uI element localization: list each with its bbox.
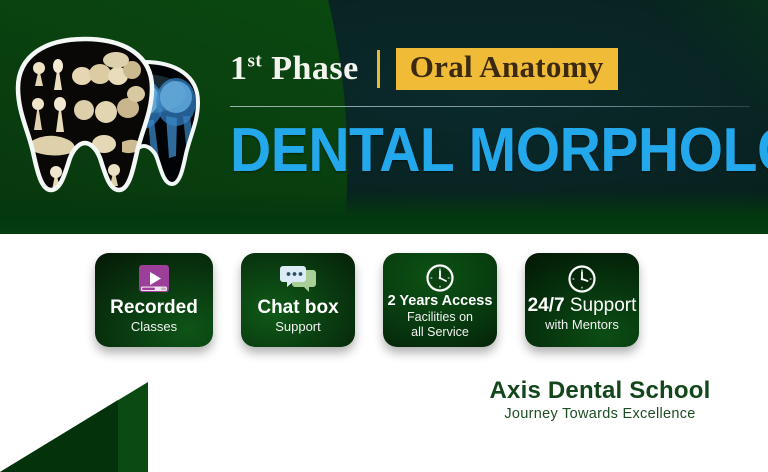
tooth-specimen-collage [12,34,158,196]
feature-card-list: Recorded Classes Chat box Support [95,253,639,347]
card-title: 2 Years Access [388,294,493,310]
teeth-artwork [8,28,214,204]
card-subtitle-line1: Facilities on [407,310,473,325]
feature-card-recorded[interactable]: Recorded Classes [95,253,213,347]
card-title: Recorded [110,298,198,319]
corner-triangle-inner [0,400,118,472]
card-subtitle: Classes [131,319,177,335]
header-divider-rule [230,106,750,107]
subject-badge: Oral Anatomy [396,48,618,90]
card-title: Chat box [257,298,338,319]
card-subtitle-line2: all Service [411,325,469,340]
card-subtitle: with Mentors [545,317,619,333]
card-title-light: Support [570,295,637,316]
card-title: 24/7 Support [528,296,637,317]
phase-number: 1 [230,50,248,87]
clock-icon [567,263,597,295]
brand-name: Axis Dental School [480,378,720,404]
content-area: Recorded Classes Chat box Support [0,234,768,472]
phase-label: 1st Phase [230,50,359,88]
clock-icon [425,263,455,293]
header-band: 1st Phase Oral Anatomy DENTAL MORPHOLOGY [0,0,768,234]
phase-word: Phase [271,50,359,87]
phase-ordinal-suffix: st [248,51,263,72]
card-subtitle: Support [275,319,321,335]
header-text-block: 1st Phase Oral Anatomy DENTAL MORPHOLOGY [230,44,754,182]
brand-logo: Axis Dental School Journey Towards Excel… [480,378,720,422]
feature-card-chatbox[interactable]: Chat box Support [241,253,355,347]
page-title: DENTAL MORPHOLOGY [230,120,712,182]
header-top-line: 1st Phase Oral Anatomy [230,44,754,94]
brand-tagline: Journey Towards Excellence [480,406,720,422]
vertical-bar-divider-icon [377,50,380,88]
video-player-icon [137,263,171,295]
feature-card-24-7-support[interactable]: 24/7 Support with Mentors [525,253,639,347]
card-title-bold: 24/7 [528,295,565,316]
feature-card-two-years-access[interactable]: 2 Years Access Facilities on all Service [383,253,497,347]
promo-poster: 1st Phase Oral Anatomy DENTAL MORPHOLOGY [0,0,768,472]
chat-bubbles-icon [279,263,317,295]
